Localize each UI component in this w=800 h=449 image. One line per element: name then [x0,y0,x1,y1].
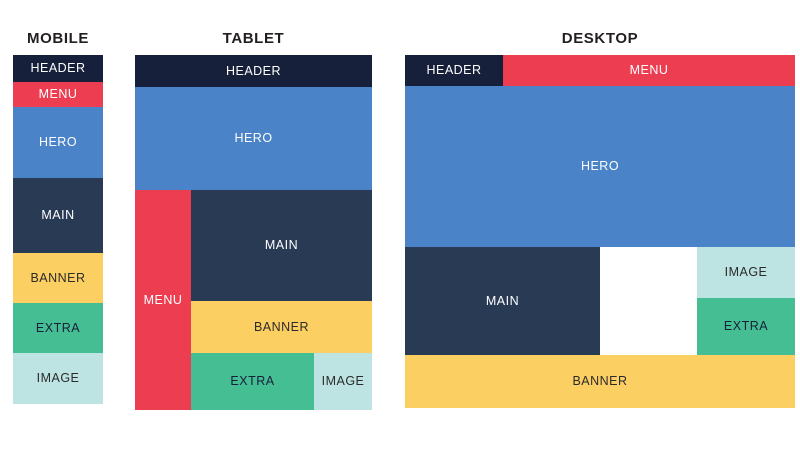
desktop-main-label: MAIN [486,295,519,308]
desktop-block-hero[interactable]: HERO [405,86,795,247]
desktop-header-label: HEADER [426,64,481,77]
mobile-block-banner[interactable]: BANNER [13,253,103,303]
mobile-block-menu[interactable]: MENU [13,82,103,107]
mobile-block-main[interactable]: MAIN [13,178,103,253]
mobile-menu-label: MENU [39,88,78,101]
desktop-column-title: DESKTOP [405,30,795,47]
mobile-extra-label: EXTRA [36,322,80,335]
desktop-block-main[interactable]: MAIN [405,247,600,355]
mobile-image-label: IMAGE [37,372,80,385]
desktop-block-banner[interactable]: BANNER [405,355,795,408]
mobile-main-label: MAIN [41,209,74,222]
tablet-block-main[interactable]: MAIN [191,190,372,301]
tablet-main-label: MAIN [265,239,298,252]
tablet-header-label: HEADER [226,65,281,78]
desktop-block-image[interactable]: IMAGE [697,247,795,298]
desktop-block-header[interactable]: HEADER [405,55,503,86]
desktop-menu-label: MENU [630,64,669,77]
tablet-column-title: TABLET [135,30,372,47]
tablet-block-banner[interactable]: BANNER [191,301,372,353]
desktop-block-menu[interactable]: MENU [503,55,795,86]
tablet-block-hero[interactable]: HERO [135,87,372,190]
mobile-column-title: MOBILE [13,30,103,47]
mobile-block-extra[interactable]: EXTRA [13,303,103,353]
mobile-hero-label: HERO [39,136,77,149]
mobile-banner-label: BANNER [30,272,85,285]
desktop-hero-label: HERO [581,160,619,173]
desktop-banner-label: BANNER [572,375,627,388]
tablet-hero-label: HERO [234,132,272,145]
tablet-block-header[interactable]: HEADER [135,55,372,87]
mobile-header-label: HEADER [30,62,85,75]
desktop-block-empty-gap [600,247,697,355]
tablet-image-label: IMAGE [322,375,365,388]
tablet-block-image[interactable]: IMAGE [314,353,372,410]
mobile-block-image[interactable]: IMAGE [13,353,103,404]
tablet-block-menu[interactable]: MENU [135,190,191,410]
tablet-banner-label: BANNER [254,321,309,334]
tablet-block-extra[interactable]: EXTRA [191,353,314,410]
desktop-extra-label: EXTRA [724,320,768,333]
mobile-block-header[interactable]: HEADER [13,55,103,82]
mobile-block-hero[interactable]: HERO [13,107,103,178]
tablet-extra-label: EXTRA [230,375,274,388]
desktop-image-label: IMAGE [725,266,768,279]
wireframe-canvas: MOBILE HEADER MENU HERO MAIN BANNER EXTR… [0,0,800,449]
tablet-menu-label: MENU [144,294,183,307]
desktop-block-extra[interactable]: EXTRA [697,298,795,355]
